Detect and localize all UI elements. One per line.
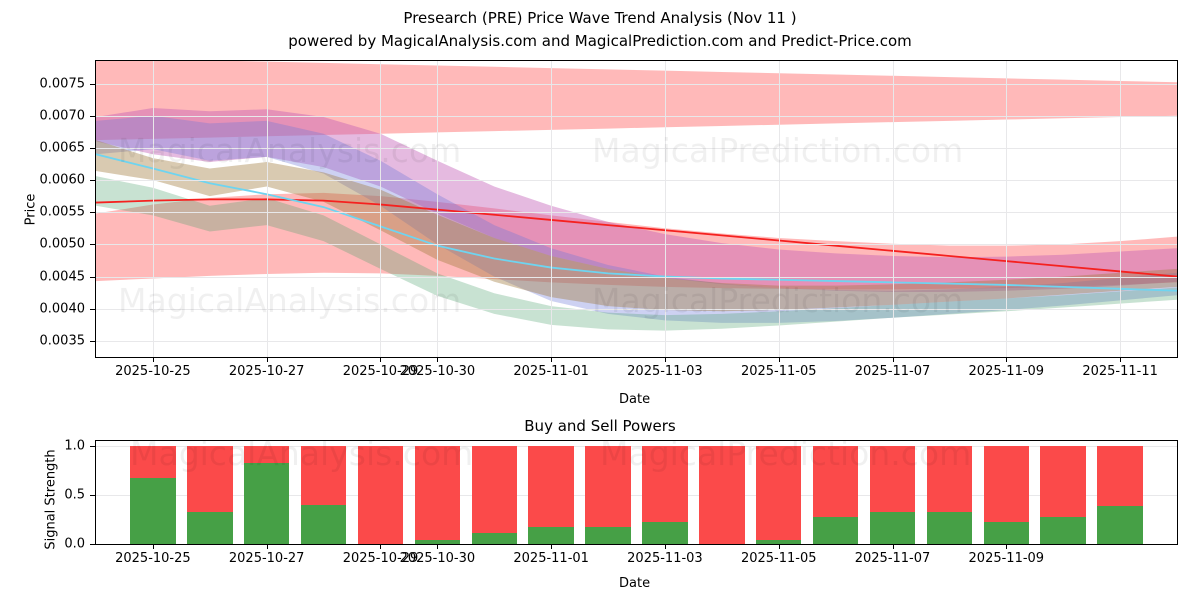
- price-x-tick-mark: [665, 357, 666, 362]
- buy-power-segment: [1040, 517, 1086, 544]
- buy-power-segment: [984, 522, 1030, 544]
- bar-group[interactable]: [870, 441, 916, 544]
- bars-x-tick-mark: [380, 544, 381, 549]
- bars-x-tick-mark: [665, 544, 666, 549]
- price-y-tick-mark: [90, 116, 95, 117]
- price-gridline: [96, 341, 1177, 342]
- price-x-tick-mark: [551, 357, 552, 362]
- price-y-tick-mark: [90, 244, 95, 245]
- price-wave-chart: [95, 60, 1178, 358]
- sell-power-segment: [870, 446, 916, 512]
- price-gridline: [96, 277, 1177, 278]
- price-x-tick-mark: [893, 357, 894, 362]
- price-y-tick-mark: [90, 277, 95, 278]
- sell-power-segment: [187, 446, 233, 512]
- bars-x-tick-label: 2025-10-25: [115, 551, 191, 566]
- buy-power-segment: [585, 527, 631, 544]
- price-vgridline: [893, 61, 894, 357]
- bars-x-tick-mark: [437, 544, 438, 549]
- price-x-tick-mark: [153, 357, 154, 362]
- buy-power-segment: [870, 512, 916, 544]
- price-y-axis-label: Price: [24, 170, 39, 250]
- bars-x-tick-mark: [153, 544, 154, 549]
- price-x-tick-mark: [779, 357, 780, 362]
- sell-power-segment: [984, 446, 1030, 523]
- price-x-tick-mark: [380, 357, 381, 362]
- sell-power-segment: [415, 446, 461, 540]
- buy-power-segment: [472, 533, 518, 544]
- bar-group[interactable]: [528, 441, 574, 544]
- bars-y-axis-label: Signal Strength: [44, 430, 59, 570]
- price-y-tick-label: 0.0065: [5, 140, 85, 155]
- bars-x-tick-label: 2025-11-03: [627, 551, 703, 566]
- buy-power-segment: [244, 463, 290, 544]
- price-gridline: [96, 84, 1177, 85]
- bars-chart-title: Buy and Sell Powers: [0, 417, 1200, 435]
- bar-group[interactable]: [244, 441, 290, 544]
- price-x-tick-mark: [267, 357, 268, 362]
- buy-power-segment: [301, 505, 347, 544]
- bar-group[interactable]: [813, 441, 859, 544]
- price-y-tick-label: 0.0045: [5, 269, 85, 284]
- buy-power-segment: [130, 478, 176, 544]
- price-gridline: [96, 116, 1177, 117]
- sell-power-segment: [244, 446, 290, 463]
- price-vgridline: [1120, 61, 1121, 357]
- price-vgridline: [665, 61, 666, 357]
- price-gridline: [96, 180, 1177, 181]
- price-y-tick-label: 0.0040: [5, 301, 85, 316]
- sell-power-segment: [699, 446, 745, 544]
- bars-y-tick-label: 0.0: [35, 537, 85, 552]
- bars-x-tick-label: 2025-11-07: [855, 551, 931, 566]
- bars-x-tick-mark: [551, 544, 552, 549]
- buy-power-segment: [813, 517, 859, 544]
- price-x-tick-label: 2025-11-09: [969, 364, 1045, 379]
- price-y-tick-label: 0.0070: [5, 108, 85, 123]
- sell-power-segment: [1097, 446, 1143, 506]
- sell-power-segment: [472, 446, 518, 533]
- price-gridline: [96, 148, 1177, 149]
- price-y-tick-mark: [90, 309, 95, 310]
- bar-group[interactable]: [984, 441, 1030, 544]
- price-vgridline: [437, 61, 438, 357]
- price-gridline: [96, 309, 1177, 310]
- bars-x-tick-label: 2025-10-27: [229, 551, 305, 566]
- buy-power-segment: [528, 527, 574, 544]
- sell-power-segment: [756, 446, 802, 540]
- sell-power-segment: [813, 446, 859, 517]
- page-title: Presearch (PRE) Price Wave Trend Analysi…: [0, 9, 1200, 27]
- bars-y-tick-label: 1.0: [35, 438, 85, 453]
- bar-group[interactable]: [1040, 441, 1086, 544]
- bar-group[interactable]: [699, 441, 745, 544]
- bars-x-axis-label: Date: [619, 576, 650, 591]
- price-x-tick-mark: [437, 357, 438, 362]
- price-x-tick-label: 2025-10-27: [229, 364, 305, 379]
- price-vgridline: [153, 61, 154, 357]
- bar-group[interactable]: [187, 441, 233, 544]
- price-x-tick-label: 2025-11-05: [741, 364, 817, 379]
- price-x-tick-mark: [1120, 357, 1121, 362]
- price-vgridline: [551, 61, 552, 357]
- bars-x-tick-label: 2025-11-01: [513, 551, 589, 566]
- price-x-axis-label: Date: [619, 392, 650, 407]
- price-x-tick-label: 2025-11-01: [513, 364, 589, 379]
- bar-group[interactable]: [927, 441, 973, 544]
- price-y-tick-mark: [90, 148, 95, 149]
- bar-group[interactable]: [585, 441, 631, 544]
- buy-power-segment: [927, 512, 973, 544]
- price-x-tick-label: 2025-10-25: [115, 364, 191, 379]
- bars-y-tick-mark: [90, 446, 95, 447]
- buy-power-segment: [642, 522, 688, 544]
- bar-group[interactable]: [130, 441, 176, 544]
- bar-group[interactable]: [301, 441, 347, 544]
- price-x-tick-label: 2025-11-11: [1082, 364, 1158, 379]
- buy-sell-powers-chart: [95, 440, 1178, 545]
- sell-power-segment: [642, 446, 688, 523]
- bar-group[interactable]: [756, 441, 802, 544]
- bars-x-tick-mark: [779, 544, 780, 549]
- bars-y-tick-label: 0.5: [35, 487, 85, 502]
- bars-x-tick-label: 2025-11-05: [741, 551, 817, 566]
- price-y-tick-label: 0.0055: [5, 205, 85, 220]
- price-x-tick-mark: [1006, 357, 1007, 362]
- price-vgridline: [267, 61, 268, 357]
- bar-group[interactable]: [472, 441, 518, 544]
- bar-group[interactable]: [415, 441, 461, 544]
- sell-power-segment: [528, 446, 574, 527]
- price-vgridline: [380, 61, 381, 357]
- bars-x-tick-mark: [267, 544, 268, 549]
- price-x-tick-label: 2025-11-07: [855, 364, 931, 379]
- price-bands-svg: [96, 61, 1177, 357]
- sell-power-segment: [301, 446, 347, 505]
- price-y-tick-label: 0.0035: [5, 333, 85, 348]
- price-y-tick-mark: [90, 180, 95, 181]
- price-y-tick-mark: [90, 212, 95, 213]
- sell-power-segment: [927, 446, 973, 512]
- price-vgridline: [779, 61, 780, 357]
- buy-power-segment: [187, 512, 233, 544]
- sell-power-segment: [1040, 446, 1086, 517]
- bars-x-tick-mark: [893, 544, 894, 549]
- bars-y-tick-mark: [90, 544, 95, 545]
- bar-group[interactable]: [358, 441, 404, 544]
- sell-power-segment: [585, 446, 631, 527]
- price-x-tick-label: 2025-11-03: [627, 364, 703, 379]
- bars-y-tick-mark: [90, 495, 95, 496]
- price-gridline: [96, 212, 1177, 213]
- buy-power-segment: [1097, 506, 1143, 544]
- bars-x-tick-label: 2025-10-30: [400, 551, 476, 566]
- bar-group[interactable]: [642, 441, 688, 544]
- price-vgridline: [1006, 61, 1007, 357]
- bar-group[interactable]: [1097, 441, 1143, 544]
- page-subtitle: powered by MagicalAnalysis.com and Magic…: [0, 32, 1200, 50]
- price-y-tick-label: 0.0060: [5, 173, 85, 188]
- sell-power-segment: [130, 446, 176, 478]
- sell-power-segment: [358, 446, 404, 544]
- price-y-tick-mark: [90, 84, 95, 85]
- price-gridline: [96, 244, 1177, 245]
- price-x-tick-label: 2025-10-30: [400, 364, 476, 379]
- bars-x-tick-label: 2025-11-09: [969, 551, 1045, 566]
- price-y-tick-label: 0.0075: [5, 76, 85, 91]
- price-y-tick-label: 0.0050: [5, 237, 85, 252]
- bars-x-tick-mark: [1006, 544, 1007, 549]
- price-y-tick-mark: [90, 341, 95, 342]
